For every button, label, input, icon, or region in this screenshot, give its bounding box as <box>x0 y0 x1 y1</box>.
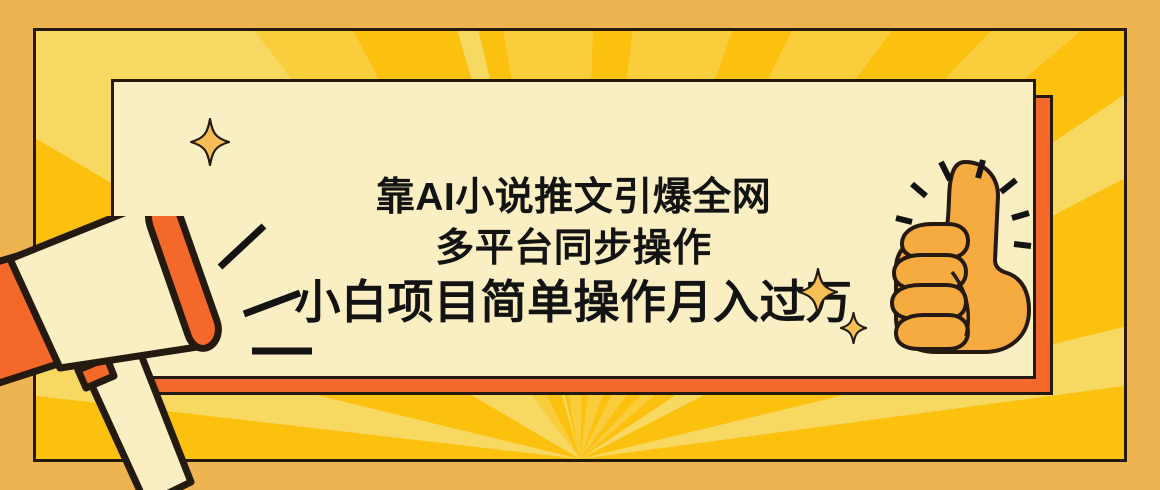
megaphone-icon <box>0 216 296 490</box>
poster-canvas: 靠AI小说推文引爆全网 多平台同步操作 小白项目简单操作月入过万 <box>0 0 1160 490</box>
headline-line-1: 靠AI小说推文引爆全网 <box>376 178 772 218</box>
sparkle-icon <box>798 268 838 316</box>
thumbs-up-icon <box>862 152 1062 392</box>
headline-line-2: 多平台同步操作 <box>435 229 712 269</box>
headline-line-3: 小白项目简单操作月入过万 <box>295 279 853 326</box>
sparkle-icon <box>190 118 230 166</box>
